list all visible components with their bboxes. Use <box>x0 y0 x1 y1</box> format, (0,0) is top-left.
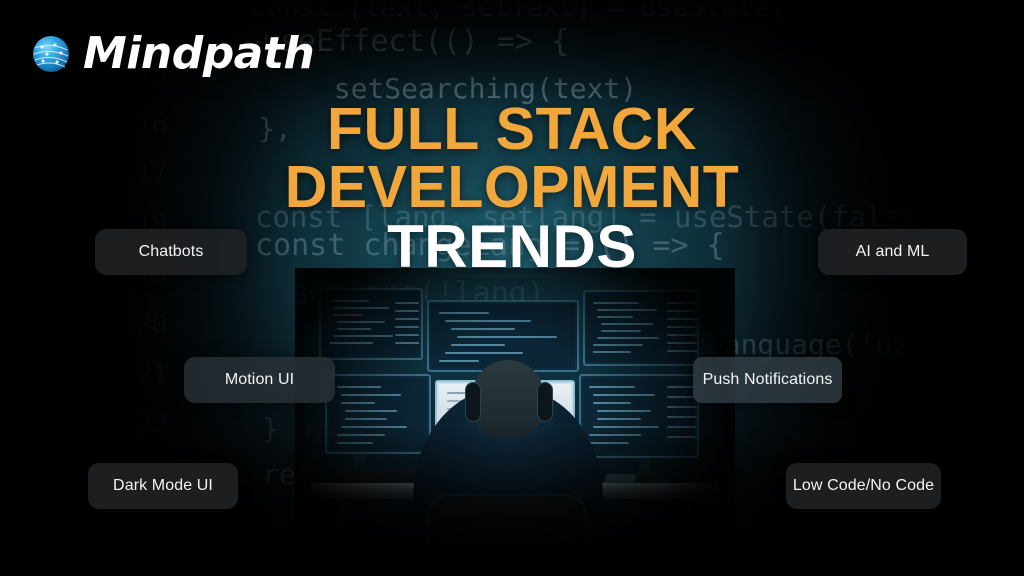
trend-label-low-code-no-code[interactable]: Low Code/No Code <box>786 463 941 509</box>
title-line-2: DEVELOPMENT <box>0 158 1024 216</box>
title-line-1: FULL STACK <box>0 100 1024 158</box>
trend-label-push-notifications[interactable]: Push Notifications <box>693 357 842 403</box>
trend-label-text: AI and ML <box>856 243 930 261</box>
brand-name: Mindpath <box>83 28 314 79</box>
trend-label-text: Chatbots <box>139 243 204 261</box>
trend-label-ai-and-ml[interactable]: AI and ML <box>818 229 967 275</box>
trend-label-motion-ui[interactable]: Motion UI <box>184 357 335 403</box>
trend-label-chatbots[interactable]: Chatbots <box>95 229 247 275</box>
trend-label-text: Low Code/No Code <box>793 477 934 495</box>
trend-label-text: Motion UI <box>225 371 294 389</box>
trend-label-text: Push Notifications <box>703 371 833 389</box>
trend-label-dark-mode-ui[interactable]: Dark Mode UI <box>88 463 238 509</box>
brand-logo[interactable]: Mindpath <box>30 28 314 79</box>
slide-canvas: 14 15 16 17 18 19 20 21 22 23 24 25 cons… <box>0 0 1024 576</box>
globe-network-icon <box>30 33 72 75</box>
trend-label-text: Dark Mode UI <box>113 477 213 495</box>
